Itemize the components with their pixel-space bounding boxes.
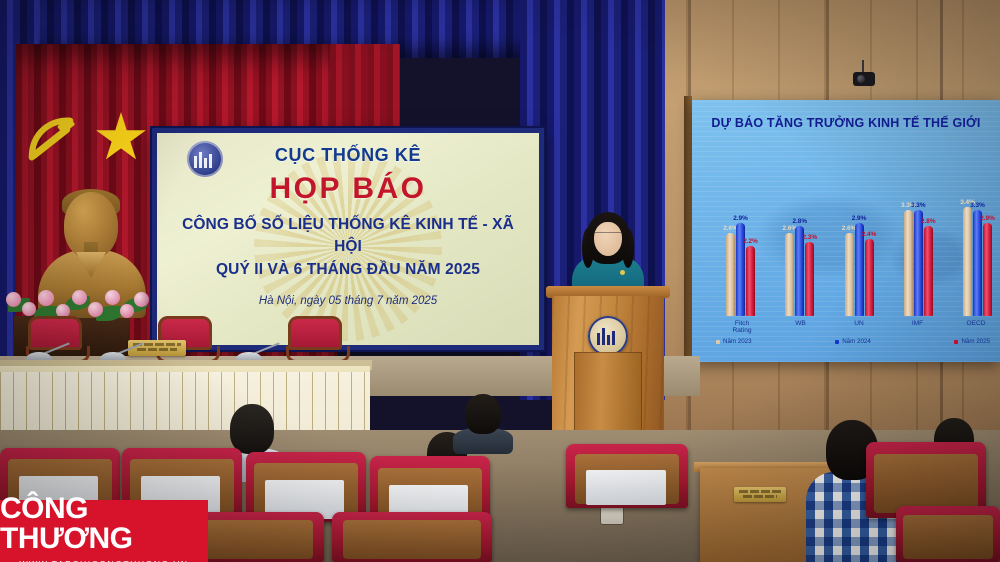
bar-value-label: 3.3%	[970, 202, 985, 209]
bar-value-label: 2.8%	[792, 218, 807, 225]
bar-group: 2.6%2.9%2.4%	[845, 188, 874, 316]
audience-seat	[332, 512, 492, 562]
bar-value-label: 2.9%	[980, 215, 995, 222]
audience-seat	[896, 506, 1000, 562]
delegate-nameplate	[734, 487, 786, 502]
bar-value-label: 2.8%	[921, 218, 936, 225]
bar-value-label: 2.2%	[743, 238, 758, 245]
bar-fitch-rating-2025: 2.2%	[746, 246, 755, 316]
chart-title: DỰ BÁO TĂNG TRƯỞNG KINH TẾ THẾ GIỚI	[692, 116, 1000, 130]
bar-oecd-2024: 3.3%	[973, 210, 982, 316]
screen-frame	[684, 96, 692, 368]
x-axis-label: Fitch Rating	[726, 320, 758, 334]
chart-legend: Năm 2023Năm 2024Năm 2025	[716, 338, 990, 345]
bar-un-2023: 2.6%	[845, 233, 854, 316]
legend-label: Năm 2024	[842, 338, 871, 345]
banner-subtitle-line2: QUÝ II VÀ 6 THÁNG ĐẦU NĂM 2025	[167, 259, 529, 281]
screenshot-root: CỤC THỐNG KÊ HỌP BÁO CÔNG BỐ SỐ LIỆU THỐ…	[0, 0, 1000, 562]
watermark-url: WWW.TAPCHICONGTHUONG.VN	[20, 559, 189, 562]
publisher-watermark: CÔNG THƯƠNG WWW.TAPCHICONGTHUONG.VN	[0, 500, 208, 562]
bar-value-label: 2.3%	[802, 234, 817, 241]
bar-value-label: 2.9%	[733, 215, 748, 222]
audience-member	[453, 394, 513, 450]
bar-value-label: 2.9%	[852, 215, 867, 222]
bar-oecd-2025: 2.9%	[983, 223, 992, 316]
projection-screen: DỰ BÁO TĂNG TRƯỞNG KINH TẾ THẾ GIỚI 2.6%…	[692, 100, 1000, 362]
banner-date: Hà Nội, ngày 05 tháng 7 năm 2025	[167, 295, 529, 307]
x-axis-label: IMF	[902, 320, 934, 334]
chart-x-axis-labels: Fitch RatingWBUNIMFOECD	[726, 320, 992, 334]
watermark-title: CÔNG THƯƠNG	[0, 494, 208, 554]
legend-label: Năm 2023	[723, 338, 752, 345]
bar-imf-2024: 3.3%	[914, 210, 923, 316]
gso-emblem-icon	[588, 316, 628, 356]
bar-un-2025: 2.4%	[865, 239, 874, 316]
ceiling-camera	[853, 72, 875, 86]
banner-event-title: HỌP BÁO	[167, 172, 529, 206]
bar-group: 2.6%2.9%2.2%	[726, 188, 755, 316]
bar-wb-2023: 2.6%	[785, 233, 794, 316]
legend-swatch-icon	[716, 340, 720, 344]
legend-label: Năm 2025	[961, 338, 990, 345]
hammer-and-sickle-icon	[22, 112, 80, 168]
bar-group: 3.4%3.3%2.9%	[963, 188, 992, 316]
x-axis-label: OECD	[960, 320, 992, 334]
x-axis-label: UN	[843, 320, 875, 334]
legend-item: Năm 2025	[954, 338, 990, 345]
bar-group: 2.6%2.8%2.3%	[785, 188, 814, 316]
legend-swatch-icon	[954, 340, 958, 344]
bar-chart-plot: 2.6%2.9%2.2%2.6%2.8%2.3%2.6%2.9%2.4%3.3%…	[726, 188, 992, 316]
bar-oecd-2023: 3.4%	[963, 207, 972, 316]
banner-subtitle-line1: CÔNG BỐ SỐ LIỆU THỐNG KÊ KINH TẾ - XÃ HỘ…	[167, 214, 529, 259]
gold-star-icon	[95, 112, 147, 164]
bar-value-label: 2.4%	[862, 231, 877, 238]
legend-item: Năm 2024	[835, 338, 871, 345]
delegate-nameplate	[128, 340, 186, 356]
bar-fitch-rating-2023: 2.6%	[726, 233, 735, 316]
bar-imf-2023: 3.3%	[904, 210, 913, 316]
x-axis-label: WB	[785, 320, 817, 334]
legend-swatch-icon	[835, 340, 839, 344]
banner-organization: CỤC THỐNG KÊ	[167, 145, 529, 166]
bar-wb-2025: 2.3%	[805, 242, 814, 316]
bar-group: 3.3%3.3%2.8%	[904, 188, 933, 316]
legend-item: Năm 2023	[716, 338, 752, 345]
audience-seat	[566, 444, 688, 508]
bar-value-label: 3.3%	[911, 202, 926, 209]
bar-imf-2025: 2.8%	[924, 226, 933, 316]
